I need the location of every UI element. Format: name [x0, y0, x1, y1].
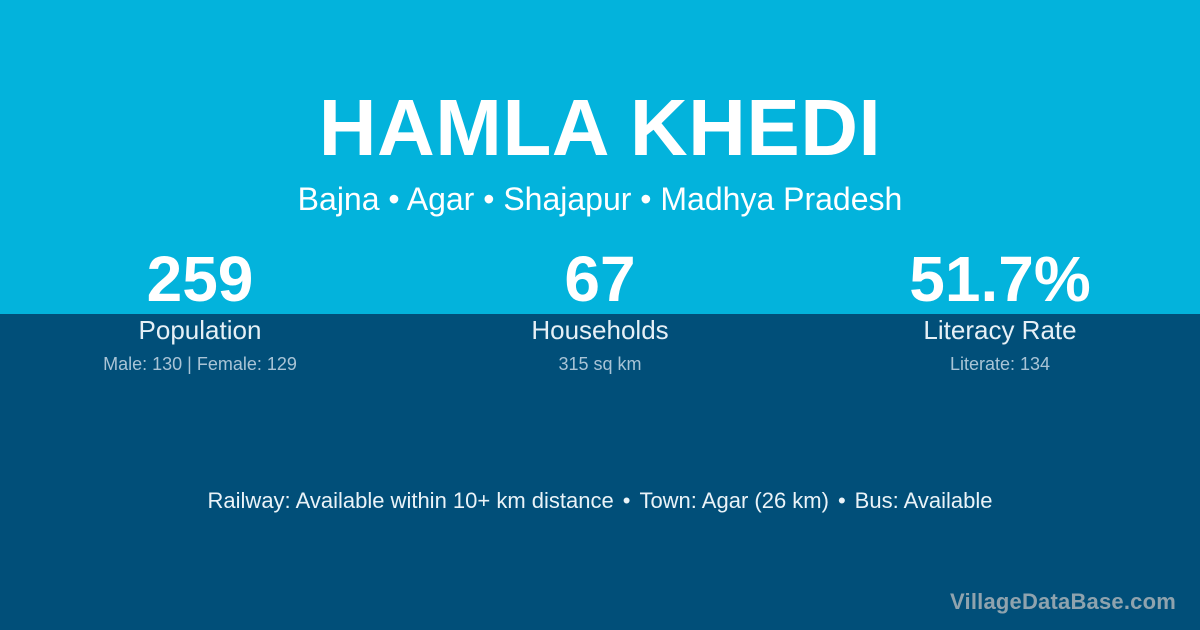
village-info-card: HAMLA KHEDI Bajna • Agar • Shajapur • Ma… — [0, 0, 1200, 630]
stat-population-label: Population — [0, 314, 400, 346]
stat-literacy: 51.7% Literacy Rate Literate: 134 — [800, 0, 1200, 630]
stat-households-sublabel: 315 sq km — [400, 352, 800, 376]
facility-bus: Bus: Available — [855, 488, 993, 513]
stat-population: 259 Population Male: 130 | Female: 129 — [0, 0, 400, 630]
facilities-line: Railway: Available within 10+ km distanc… — [0, 486, 1200, 516]
stat-literacy-value: 51.7% — [800, 244, 1200, 314]
stat-literacy-sublabel: Literate: 134 — [800, 352, 1200, 376]
stat-households-value: 67 — [400, 244, 800, 314]
facility-separator-1: • — [614, 486, 640, 516]
stats-row: 259 Population Male: 130 | Female: 129 6… — [0, 0, 1200, 630]
site-watermark: VillageDataBase.com — [950, 588, 1176, 616]
facility-railway: Railway: Available within 10+ km distanc… — [208, 488, 614, 513]
stat-households: 67 Households 315 sq km — [400, 0, 800, 630]
stat-population-sublabel: Male: 130 | Female: 129 — [0, 352, 400, 376]
facility-town: Town: Agar (26 km) — [639, 488, 829, 513]
stat-literacy-label: Literacy Rate — [800, 314, 1200, 346]
facility-separator-2: • — [829, 486, 855, 516]
stat-households-label: Households — [400, 314, 800, 346]
stat-population-value: 259 — [0, 244, 400, 314]
